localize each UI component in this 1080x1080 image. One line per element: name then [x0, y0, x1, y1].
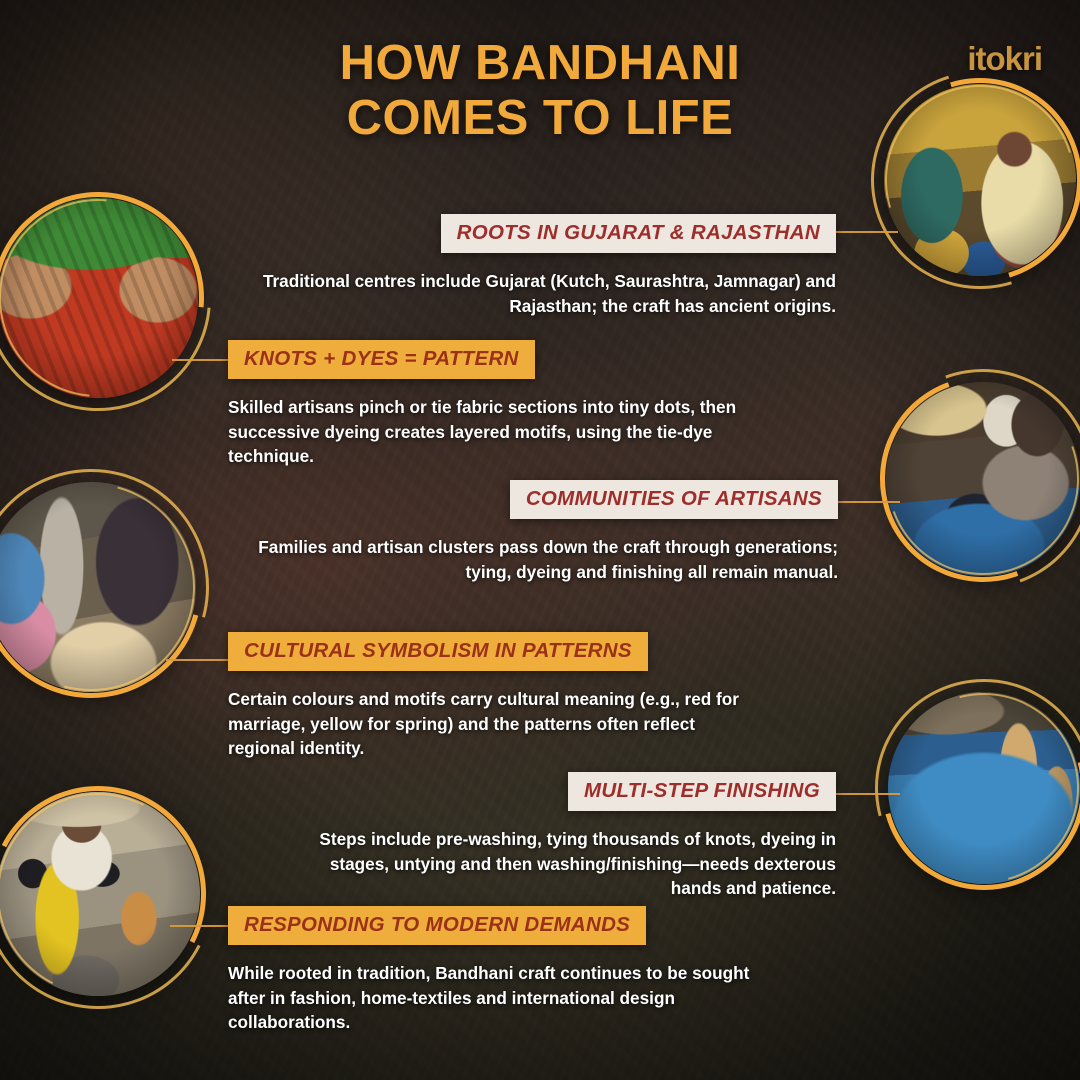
section-heading-wrap: CULTURAL SYMBOLISM IN PATTERNS	[228, 632, 758, 671]
section-heading-5: MULTI-STEP FINISHING	[568, 772, 836, 811]
page-title-line-1: HOW BANDHANI	[0, 36, 1080, 91]
brand-logo-text: itokri	[967, 40, 1042, 77]
section-body-1: Traditional centres include Gujarat (Kut…	[240, 269, 836, 318]
section-heading-wrap: COMMUNITIES OF ARTISANS	[242, 480, 838, 519]
section-roots-in-gujarat-rajasthan: ROOTS IN GUJARAT & RAJASTHAN Traditional…	[240, 214, 836, 318]
section-heading-4: CULTURAL SYMBOLISM IN PATTERNS	[228, 632, 648, 671]
page-title: HOW BANDHANI COMES TO LIFE	[0, 36, 1080, 146]
section-heading-6: RESPONDING TO MODERN DEMANDS	[228, 906, 646, 945]
section-multi-step-finishing: MULTI-STEP FINISHING Steps include pre-w…	[300, 772, 836, 901]
section-heading-wrap: ROOTS IN GUJARAT & RAJASTHAN	[240, 214, 836, 253]
section-heading-wrap: MULTI-STEP FINISHING	[300, 772, 836, 811]
brand-logo[interactable]: itokri	[967, 40, 1042, 78]
section-body-4: Certain colours and motifs carry cultura…	[228, 687, 758, 761]
section-heading-wrap: KNOTS + DYES = PATTERN	[228, 340, 748, 379]
section-knots-dyes-pattern: KNOTS + DYES = PATTERN Skilled artisans …	[228, 340, 748, 469]
section-body-5: Steps include pre-washing, tying thousan…	[300, 827, 836, 901]
section-heading-2: KNOTS + DYES = PATTERN	[228, 340, 535, 379]
section-body-2: Skilled artisans pinch or tie fabric sec…	[228, 395, 748, 469]
section-communities-of-artisans: COMMUNITIES OF ARTISANS Families and art…	[242, 480, 838, 584]
section-responding-to-modern-demands: RESPONDING TO MODERN DEMANDS While roote…	[228, 906, 784, 1035]
section-body-3: Families and artisan clusters pass down …	[242, 535, 838, 584]
content-layer: HOW BANDHANI COMES TO LIFE itokri ROOTS …	[0, 0, 1080, 1080]
section-heading-wrap: RESPONDING TO MODERN DEMANDS	[228, 906, 784, 945]
page-title-line-2: COMES TO LIFE	[0, 91, 1080, 146]
infographic-poster: HOW BANDHANI COMES TO LIFE itokri ROOTS …	[0, 0, 1080, 1080]
section-heading-1: ROOTS IN GUJARAT & RAJASTHAN	[441, 214, 836, 253]
section-body-6: While rooted in tradition, Bandhani craf…	[228, 961, 784, 1035]
section-cultural-symbolism-in-patterns: CULTURAL SYMBOLISM IN PATTERNS Certain c…	[228, 632, 758, 761]
section-heading-3: COMMUNITIES OF ARTISANS	[510, 480, 838, 519]
